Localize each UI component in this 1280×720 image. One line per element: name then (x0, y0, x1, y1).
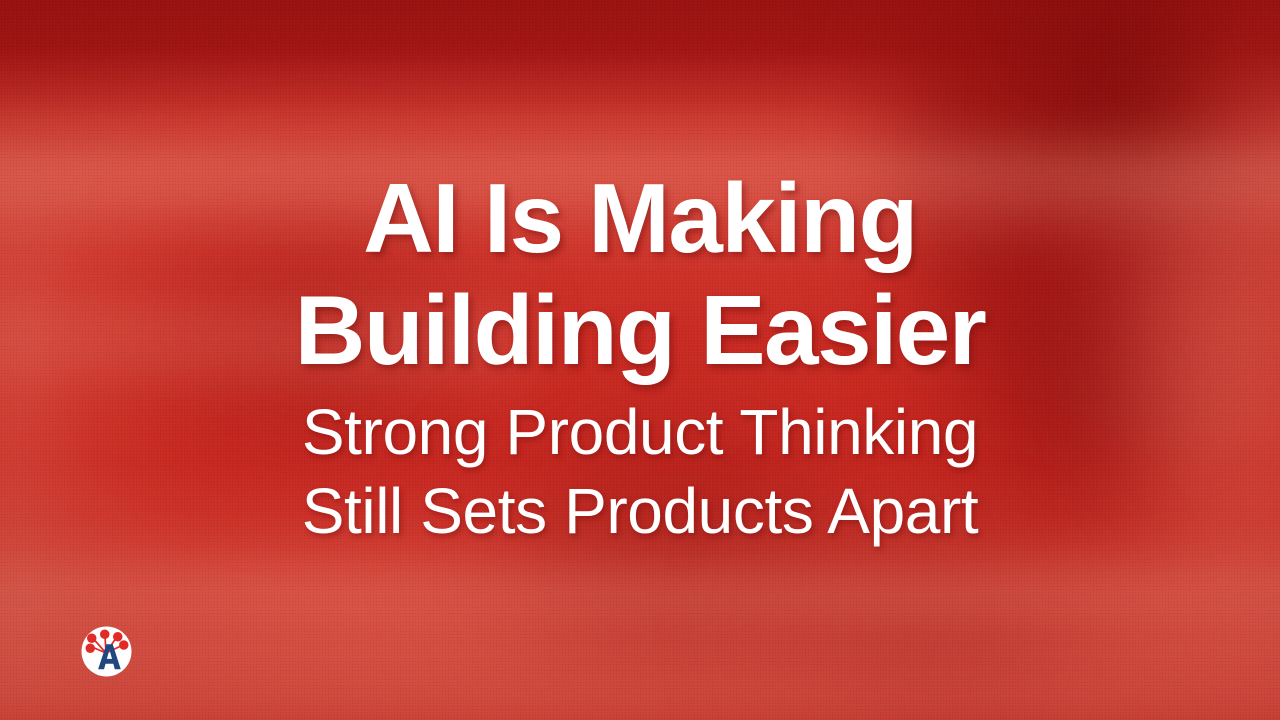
title-content: AI Is Making Building Easier Strong Prod… (0, 0, 1280, 720)
brand-logo[interactable] (81, 626, 132, 677)
subheadline: Strong Product Thinking Still Sets Produ… (0, 386, 1280, 551)
subheadline-line-2: Still Sets Products Apart (0, 472, 1280, 551)
atomic-a-logo-icon (81, 626, 132, 677)
subheadline-line-1: Strong Product Thinking (0, 393, 1280, 472)
headline-line-1: AI Is Making (0, 162, 1280, 274)
headline: AI Is Making Building Easier (0, 0, 1280, 386)
title-slide: AI Is Making Building Easier Strong Prod… (0, 0, 1280, 720)
headline-line-2: Building Easier (0, 274, 1280, 386)
